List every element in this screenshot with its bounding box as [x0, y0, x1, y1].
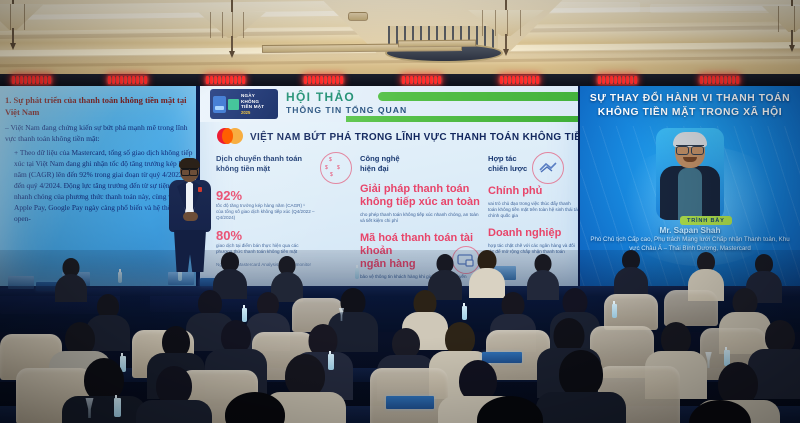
audience-chair [664, 290, 718, 326]
audience-member [470, 250, 504, 296]
chandelier-icon [468, 0, 544, 60]
presenter-lapel-pin [198, 187, 202, 192]
audience-member [140, 366, 208, 423]
ceiling-spotlight [348, 12, 368, 21]
water-bottle [114, 398, 121, 417]
conference-photo-scene: 1. Sự phát triển của thanh toán không ti… [0, 0, 800, 423]
audience-member [56, 258, 86, 298]
speaker-portrait [656, 128, 724, 220]
glasses-icon [676, 145, 704, 153]
presenter-hair [179, 158, 200, 168]
chandelier-icon [762, 0, 800, 48]
led-cluster [598, 76, 637, 84]
name-plate [386, 396, 434, 409]
portrait-shirt [678, 168, 702, 220]
led-cluster [206, 76, 245, 84]
audience-member [616, 250, 646, 296]
led-cluster [304, 76, 343, 84]
water-bottle [462, 306, 467, 320]
water-bottle [612, 304, 617, 318]
audience-seating [0, 250, 800, 423]
chandelier-icon [0, 0, 44, 48]
audience-member-foreground [450, 396, 570, 423]
led-cluster [108, 76, 147, 84]
right-panel-title: SỰ THAY ĐỔI HÀNH VI THANH TOÁN KHÔNG TIỀ… [588, 92, 792, 120]
right-panel-title-line-1: SỰ THAY ĐỔI HÀNH VI THANH TOÁN [588, 92, 792, 106]
led-cluster [700, 76, 739, 84]
speaker-name: Mr. Sapan Shah [590, 226, 790, 235]
presenter-hands [183, 212, 198, 221]
glasses-icon [181, 168, 198, 174]
ceiling [0, 0, 800, 78]
presenter-trousers [174, 230, 206, 272]
led-cluster [500, 76, 539, 84]
led-cluster [12, 76, 51, 84]
presenter-badge: TRÌNH BÀY [680, 216, 732, 225]
led-cluster [402, 76, 441, 84]
ceiling-air-vent [398, 40, 476, 48]
chandelier-icon [198, 0, 266, 60]
audience-member-foreground [200, 392, 310, 423]
audience-member-foreground [660, 400, 780, 423]
right-panel-title-line-2: KHÔNG TIỀN MẶT TRONG XÃ HỘI [588, 106, 792, 120]
presenter-on-stage [168, 160, 212, 270]
audience-member [66, 358, 142, 423]
